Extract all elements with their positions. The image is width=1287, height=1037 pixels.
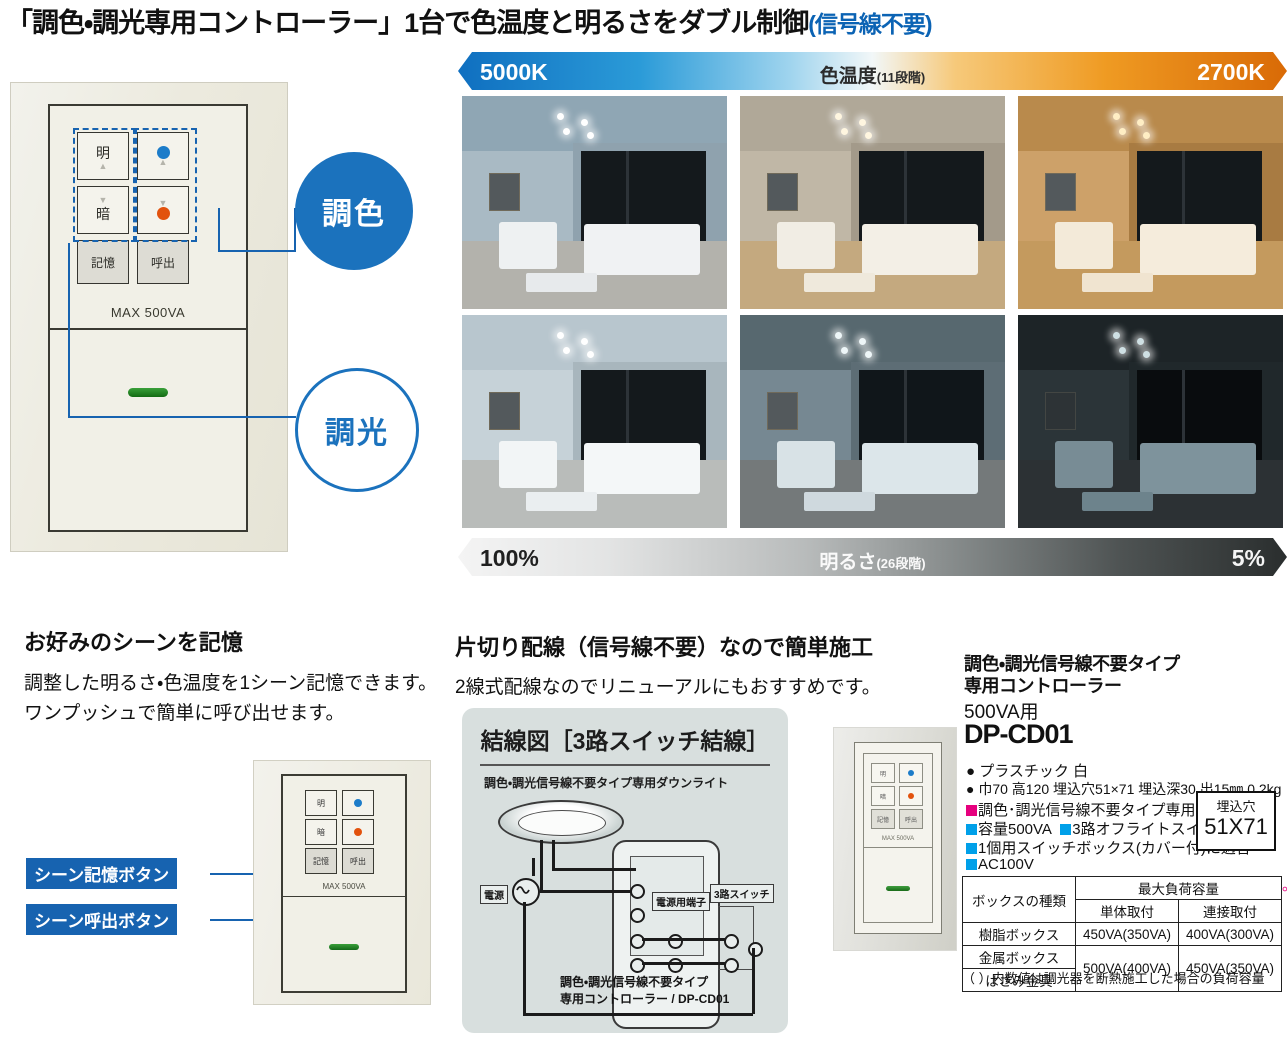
bright-button[interactable]: 明 ▲: [77, 132, 129, 180]
cell-type-metal: 金属ボックス: [963, 946, 1076, 969]
headline-main: 「調色・調光専用コントローラー」1台で色温度と明るさをダブル制御: [6, 8, 808, 38]
product-dark-button[interactable]: 暗: [871, 786, 895, 806]
br-title-text: 明るさ: [819, 552, 876, 573]
spec-dedicated-text: 調色･調光信号線不要タイプ専用: [978, 802, 1196, 819]
leader-line-color-h: [218, 250, 296, 252]
terminal-sw-1: [630, 934, 645, 949]
th-box-type: ボックスの種類: [963, 877, 1076, 923]
product-photo-dp-cd01: 明 暗 記憶 呼出 MAX 500VA: [833, 727, 957, 951]
controller-photo-small: 明 暗 記憶 呼出 MAX 500VA: [253, 760, 431, 1005]
product-indicator-led: [886, 886, 910, 891]
scene-section-line2: ワンプッシュで簡単に呼び出せます。: [24, 698, 345, 725]
headline-accent: (信号線不要): [808, 11, 931, 37]
th-single: 単体取付: [1076, 900, 1179, 923]
cell-type-resin: 樹脂ボックス: [963, 923, 1076, 946]
terminal-3way-2: [724, 958, 739, 973]
wiring-caption-line2: 専用コントローラー / DP-CD01: [560, 990, 729, 1007]
controller-plate: 明 ▲ ▲ ▼ 暗 ▼ 記憶 呼出 MAX: [48, 104, 248, 532]
th-linked: 連接取付: [1179, 900, 1282, 923]
wire-3way-b: [642, 962, 726, 965]
scene-section-line1: 調整した明るさ・色温度を1シーン記憶できます。: [24, 668, 437, 695]
wire-power-neutral: [523, 902, 526, 1015]
terminal-sw-3: [668, 934, 683, 949]
callout-color-tuning: 調色: [295, 152, 413, 270]
table-header-row: ボックスの種類 最大負荷容量: [963, 877, 1282, 900]
down-triangle-icon: ▼: [159, 200, 168, 207]
small-button-grid: 明 暗 記憶 呼出: [305, 790, 374, 874]
cell-linked-resin: 400VA(300VA): [1179, 923, 1282, 946]
controller-button-grid: 明 ▲ ▲ ▼ 暗 ▼ 記憶 呼出: [77, 132, 189, 284]
room-photo-2700k: [1018, 96, 1283, 309]
ct-steps-text: (11段階): [877, 70, 925, 85]
wiring-section-line1: 2線式配線なのでリニューアルにもおすすめです。: [455, 672, 881, 699]
embed-hole-label: 埋込穴: [1198, 796, 1274, 815]
small-controller-plate: 明 暗 記憶 呼出 MAX 500VA: [281, 774, 407, 993]
wiring-section-title: 片切り配線（信号線不要）なので簡単施工: [455, 630, 873, 662]
cyan-square-icon: [1060, 824, 1071, 835]
product-cool-color-button[interactable]: [899, 763, 923, 783]
downlight-fixture-icon: [498, 800, 624, 844]
spec-material: ● プラスチック 白: [966, 760, 1088, 781]
terminal-power-1: [630, 884, 645, 899]
product-memory-button[interactable]: 記憶: [871, 809, 895, 829]
wiring-caption-line1: 調色・調光信号線不要タイプ: [560, 973, 708, 990]
label-power-terminal: 電源用端子: [652, 892, 710, 911]
product-model-number: DP-CD01: [964, 719, 1073, 750]
leader-line-dimming-h: [68, 416, 296, 418]
wire-downlight-a: [540, 840, 543, 892]
product-bright-button[interactable]: 明: [871, 763, 895, 783]
controller-upper-section: 明 ▲ ▲ ▼ 暗 ▼ 記憶 呼出 MAX: [50, 106, 246, 330]
leader-line-dimming-v: [68, 243, 70, 418]
max-va-label: MAX 500VA: [50, 305, 246, 320]
small-recall-button[interactable]: 呼出: [342, 848, 374, 874]
warm-color-dot-icon: [157, 207, 170, 220]
label-power: 電源: [480, 885, 508, 904]
recall-button[interactable]: 呼出: [137, 240, 189, 284]
pink-square-icon: [966, 805, 977, 816]
up-triangle-icon: ▲: [99, 163, 108, 170]
wiring-diagram-subtitle: 調色・調光信号線不要タイプ専用ダウンライト: [484, 774, 728, 791]
brightness-bar: 100% 明るさ(26段階) 5%: [458, 538, 1287, 576]
product-plate-divider: [863, 847, 933, 848]
spec-voltage-row: AC100V: [966, 856, 1034, 873]
small-cool-color-button[interactable]: [342, 790, 374, 816]
room-photo-5000k: [462, 96, 727, 309]
ct-title-text: 色温度: [820, 66, 877, 87]
memory-button[interactable]: 記憶: [77, 240, 129, 284]
room-photo-5-percent: [1018, 315, 1283, 528]
product-button-grid: 明 暗 記憶 呼出: [871, 763, 923, 829]
small-warm-color-button[interactable]: [342, 819, 374, 845]
cyan-square-icon: [966, 843, 977, 854]
spec-dedicated-row: 調色･調光信号線不要タイプ専用: [966, 799, 1196, 820]
room-sample-grid: [462, 96, 1283, 532]
room-photo-100-percent: [462, 315, 727, 528]
small-upper-section: 明 暗 記憶 呼出 MAX 500VA: [283, 776, 405, 897]
product-warm-color-button[interactable]: [899, 786, 923, 806]
ct-right-value: 2700K: [1197, 59, 1265, 86]
label-3way-switch: 3路スイッチ: [710, 884, 774, 903]
product-plate: 明 暗 記憶 呼出 MAX 500VA: [854, 742, 942, 934]
small-dark-button[interactable]: 暗: [305, 819, 337, 845]
spec-table-note: （ ）内数値は調光器を断熱施工した場合の負荷容量: [962, 968, 1265, 987]
ct-title: 色温度(11段階): [458, 61, 1287, 88]
controller-product-photo: 明 ▲ ▲ ▼ 暗 ▼ 記憶 呼出 MAX: [10, 82, 288, 552]
terminal-sw-2: [630, 958, 645, 973]
downlight-inner-ring: [518, 810, 606, 836]
wire-downlight-a2: [540, 890, 636, 893]
terminal-3way-common: [748, 942, 763, 957]
cool-color-button[interactable]: ▲: [137, 132, 189, 180]
warm-color-dot-icon: [908, 793, 914, 799]
ac-source-icon: [512, 878, 540, 906]
cool-color-dot-icon: [908, 770, 914, 776]
bright-label: 明: [96, 143, 110, 163]
spec-capacity-text: 容量500VA: [978, 821, 1052, 838]
cell-single-resin: 450VA(350VA): [1076, 923, 1179, 946]
br-title: 明るさ(26段階): [458, 547, 1287, 574]
product-title-line2: 専用コントローラー: [964, 672, 1122, 698]
scene-section-title: お好みのシーンを記憶: [24, 625, 243, 657]
wiring-diagram-title: 結線図［3路スイッチ結線］: [462, 722, 788, 756]
cyan-square-icon: [966, 859, 977, 870]
room-photo-3500k: [740, 96, 1005, 309]
wire-power-neutral-h: [523, 1013, 675, 1016]
wire-power-live-a: [532, 858, 535, 876]
terminal-power-2: [630, 908, 645, 923]
small-memory-button[interactable]: 記憶: [305, 848, 337, 874]
cool-color-dot-icon: [354, 799, 362, 807]
warm-color-button[interactable]: ▼: [137, 186, 189, 234]
cyan-square-icon: [966, 824, 977, 835]
room-photo-mid-brightness: [740, 315, 1005, 528]
wire-3way-return-v: [752, 948, 755, 1014]
br-steps-text: (26段階): [876, 556, 925, 571]
tag-scene-recall-button: シーン呼出ボタン: [26, 904, 177, 935]
wiring-diagram-box: 結線図［3路スイッチ結線］ 調色・調光信号線不要タイプ専用ダウンライト 電源 電…: [462, 708, 788, 1033]
wire-downlight-b2: [552, 868, 636, 871]
up-triangle-icon: ▲: [159, 159, 168, 166]
product-max-va-label: MAX 500VA: [855, 836, 941, 842]
small-max-va-label: MAX 500VA: [283, 882, 405, 891]
page-headline: 「調色・調光専用コントローラー」1台で色温度と明るさをダブル制御(信号線不要): [6, 4, 1281, 42]
callout-dimming: 調光: [295, 368, 419, 492]
terminal-sw-4: [668, 958, 683, 973]
leader-line-color-v: [218, 208, 220, 252]
terminal-3way-1: [724, 934, 739, 949]
wire-3way-return-h: [675, 1013, 753, 1016]
color-temperature-bar: 5000K 色温度(11段階) 2700K: [458, 52, 1287, 90]
small-indicator-led: [329, 944, 359, 950]
warm-color-dot-icon: [354, 828, 362, 836]
br-right-value: 5%: [1232, 545, 1265, 572]
wiring-divider: [480, 764, 770, 766]
dark-button[interactable]: ▼ 暗: [77, 186, 129, 234]
wire-downlight-b: [552, 840, 555, 870]
embed-hole-value: 51X71: [1198, 815, 1274, 839]
table-row: 樹脂ボックス 450VA(350VA) 400VA(300VA): [963, 923, 1282, 946]
table-row: 金属ボックス 500VA(400VA) 450VA(350VA): [963, 946, 1282, 969]
small-bright-button[interactable]: 明: [305, 790, 337, 816]
down-triangle-icon: ▼: [99, 197, 108, 204]
wire-3way-a: [642, 938, 726, 941]
tag-scene-memory-button: シーン記憶ボタン: [26, 858, 177, 889]
spec-voltage-text: AC100V: [978, 856, 1034, 873]
product-recall-button[interactable]: 呼出: [899, 809, 923, 829]
th-max-load: 最大負荷容量: [1076, 877, 1282, 900]
dark-label: 暗: [96, 204, 110, 224]
indicator-led: [128, 388, 168, 397]
embed-hole-box: 埋込穴 51X71: [1196, 791, 1276, 851]
